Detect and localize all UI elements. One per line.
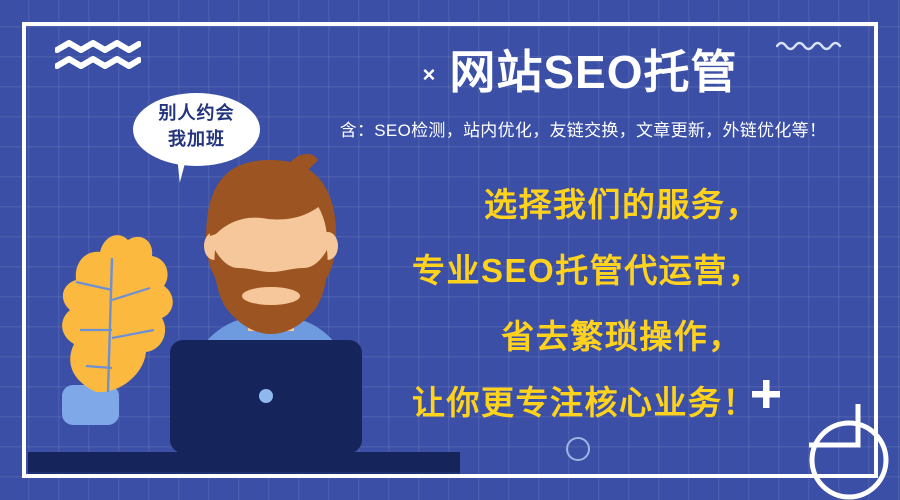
slogan-line-4: 让你更专注核心业务！ [412, 386, 832, 419]
seo-promo-banner: 别人约会 我加班 × 网站SEO托管 含：SEO检测，站内优化，友链交换，文章更… [0, 0, 900, 500]
plant-pot [62, 385, 119, 425]
headline-row: × 网站SEO托管 [300, 48, 860, 96]
person-mouth [242, 287, 300, 305]
slogan-line-2: 专业SEO托管代运营， [412, 254, 832, 287]
slogan-line-1: 选择我们的服务， [412, 188, 832, 221]
page-title: 网站SEO托管 [449, 48, 737, 96]
multiply-icon: × [422, 64, 435, 86]
laptop-logo-dot [259, 389, 273, 403]
speech-bubble-text: 别人约会 我加班 [133, 100, 260, 152]
slogan-line-3: 省去繁琐操作， [412, 320, 832, 353]
slogan-block: 选择我们的服务， 专业SEO托管代运营， 省去繁琐操作， 让你更专注核心业务！ [412, 188, 832, 419]
headline-subtitle: 含：SEO检测，站内优化，友链交换，文章更新，外链优化等！ [300, 116, 866, 141]
person-ear-left [204, 232, 224, 260]
plant-leaf [62, 235, 173, 392]
person-ear-right [318, 232, 338, 260]
desk-edge [28, 472, 460, 477]
